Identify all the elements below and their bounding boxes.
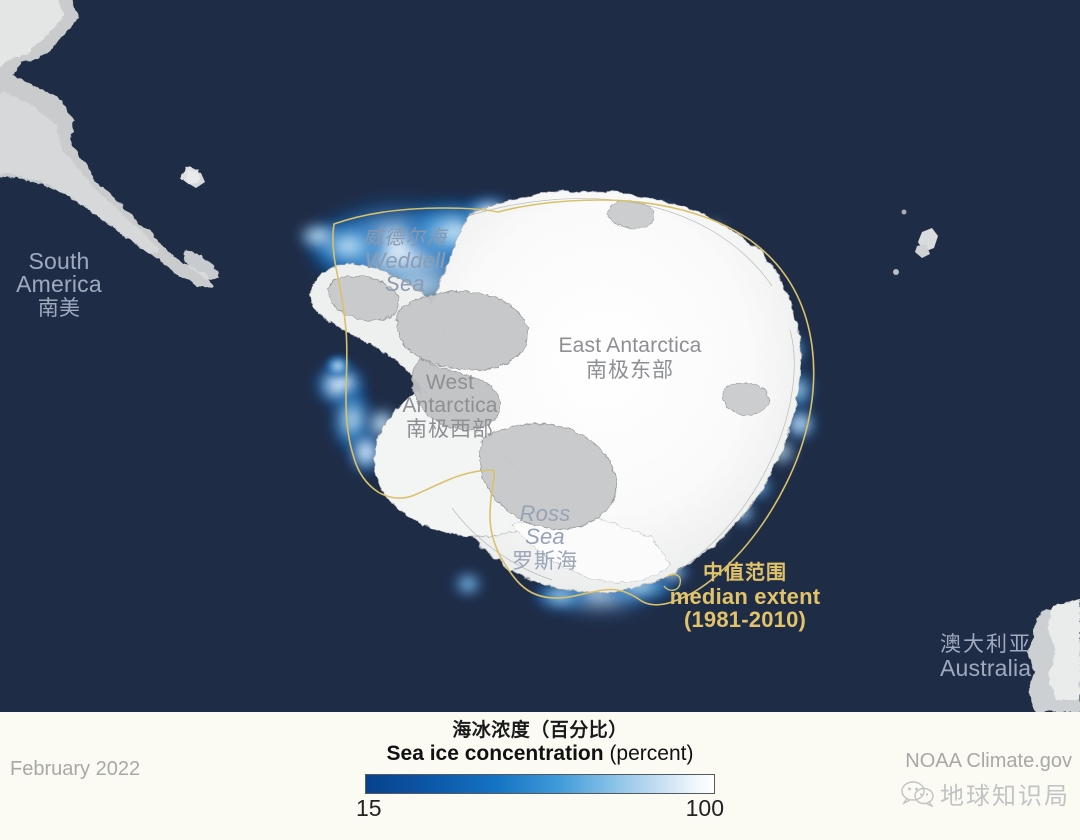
footer-bar: February 2022 海冰浓度（百分比） Sea ice concentr… [0, 712, 1080, 840]
watermark: 地球知识局 [901, 776, 1070, 811]
watermark-text: 地球知识局 [940, 776, 1070, 811]
wechat-icon [901, 781, 935, 807]
map-canvas [0, 0, 1080, 712]
legend: 海冰浓度（百分比） Sea ice concentration (percent… [330, 720, 750, 825]
legend-title-chinese: 海冰浓度（百分比） [330, 720, 750, 743]
colorbar-min-tick: 15 [356, 795, 382, 822]
screenshot-root: South America 南美 澳大利亚 Australia 威德尔海 Wed… [0, 0, 1080, 840]
footer-credit-label: NOAA Climate.gov [905, 750, 1072, 773]
sea-ice-concentration-colorbar [365, 774, 715, 794]
footer-date-label: February 2022 [10, 758, 140, 781]
antarctic-sea-ice-map: South America 南美 澳大利亚 Australia 威德尔海 Wed… [0, 0, 1080, 712]
legend-title-english: Sea ice concentration (percent) [330, 742, 750, 766]
legend-title-english-strong: Sea ice concentration [387, 742, 604, 765]
colorbar-max-tick: 100 [686, 795, 724, 822]
legend-title-english-unit: (percent) [609, 742, 693, 765]
colorbar-tick-labels: 15 100 [354, 795, 726, 825]
